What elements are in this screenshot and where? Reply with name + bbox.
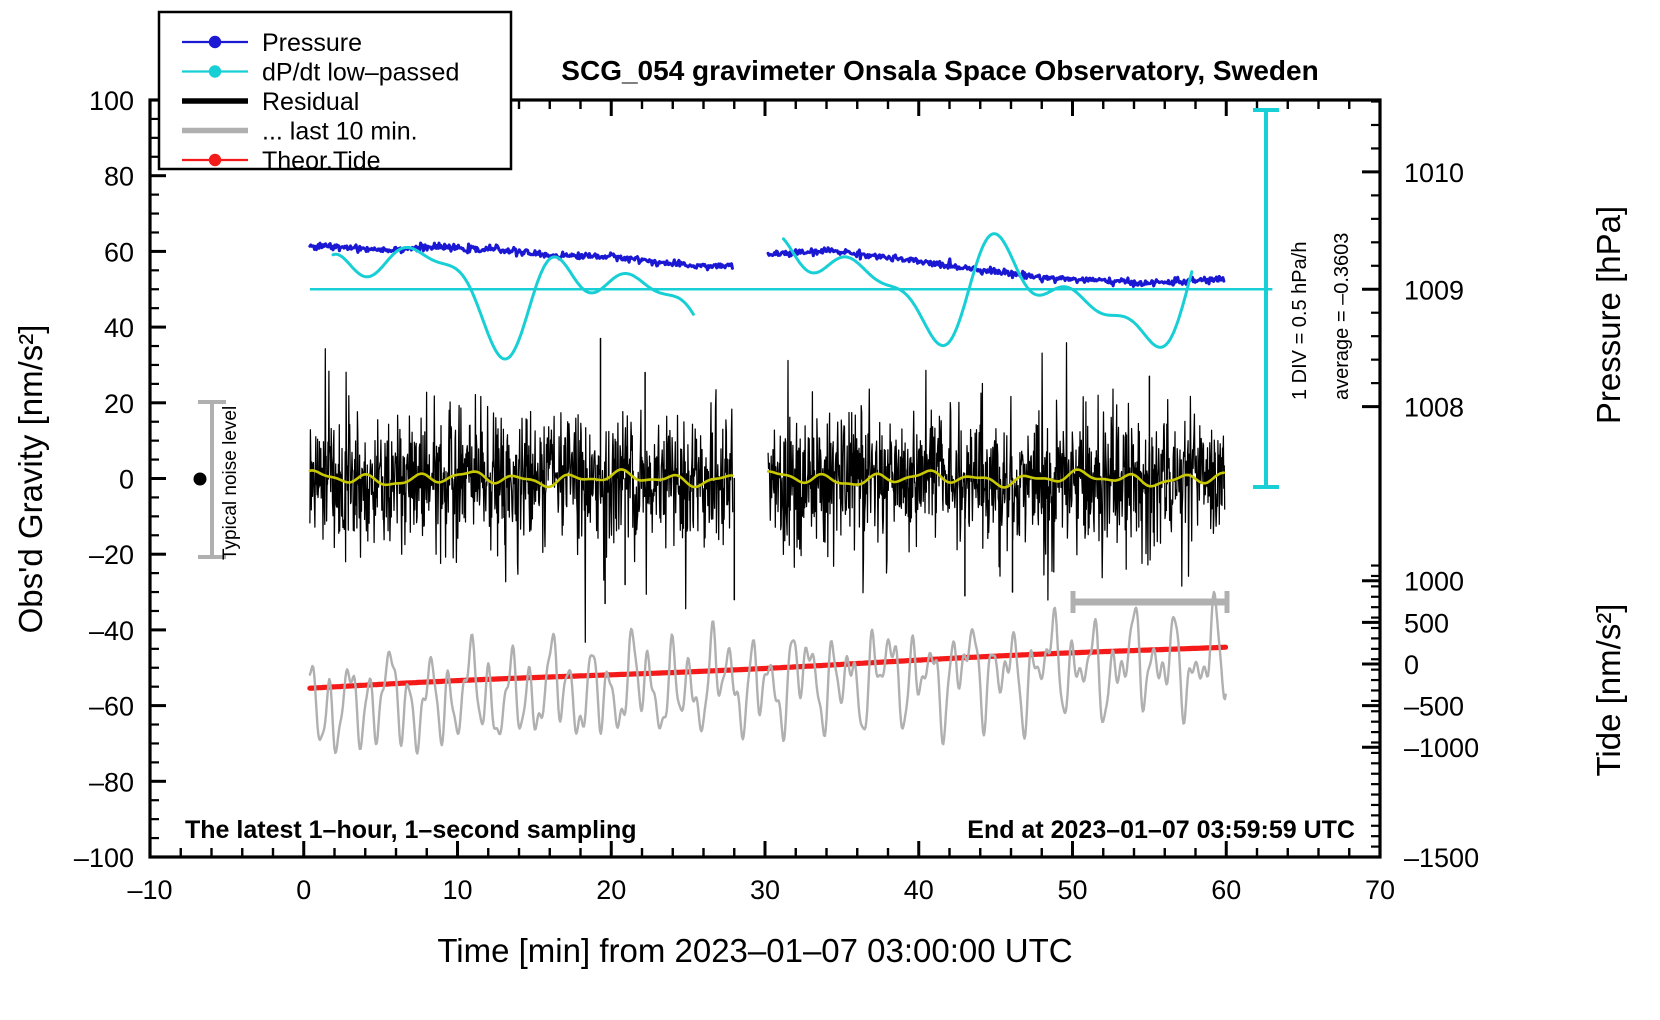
y-axis-title-tide: Tide [nm/s²] — [1590, 604, 1627, 777]
x-tick-label: 50 — [1057, 875, 1087, 905]
gravimeter-chart: –10010203040506070 100806040200–20–40–60… — [0, 0, 1660, 1020]
chart-root: –10010203040506070 100806040200–20–40–60… — [0, 0, 1660, 1020]
x-tick-label: 40 — [904, 875, 934, 905]
y-tick-label: 80 — [104, 162, 134, 192]
tide-tick-label: 500 — [1404, 608, 1449, 638]
pressure-tick-label: 1008 — [1404, 393, 1464, 423]
y-tick-label: 40 — [104, 313, 134, 343]
y-tick-label: –40 — [89, 616, 134, 646]
x-tick-label: –10 — [127, 875, 172, 905]
footer-left-label: The latest 1–hour, 1–second sampling — [185, 816, 637, 844]
tide-tick-label: 0 — [1404, 650, 1419, 680]
typical-noise-label: Typical noise level — [220, 406, 241, 560]
legend-marker — [209, 36, 221, 48]
y-tick-label: 60 — [104, 237, 134, 267]
y-tick-label: –80 — [89, 767, 134, 797]
legend-label: ... last 10 min. — [262, 118, 418, 146]
legend-label: dP/dt low–passed — [262, 59, 459, 87]
x-tick-label: 30 — [750, 875, 780, 905]
pressure-tick-label: 1009 — [1404, 275, 1464, 305]
tide-tick-label: 1000 — [1404, 567, 1464, 597]
tide-tick-label: –500 — [1404, 692, 1464, 722]
x-tick-label: 10 — [442, 875, 472, 905]
y-tick-label: –60 — [89, 692, 134, 722]
pressure-tick-label: 1010 — [1404, 158, 1464, 188]
x-axis-title: Time [min] from 2023–01–07 03:00:00 UTC — [437, 932, 1072, 969]
x-tick-label: 20 — [596, 875, 626, 905]
y-tick-label: –20 — [89, 540, 134, 570]
y-axis-title-pressure: Pressure [hPa] — [1590, 206, 1627, 424]
legend-label: Residual — [262, 88, 359, 116]
x-tick-label: 70 — [1365, 875, 1395, 905]
legend-marker — [209, 65, 221, 77]
y-tick-label: –100 — [74, 843, 134, 873]
legend: PressuredP/dt low–passedResidual... last… — [159, 12, 511, 175]
dpdt-average-label: average = –0.3603 — [1331, 233, 1353, 400]
x-tick-label: 60 — [1211, 875, 1241, 905]
x-tick-label: 0 — [296, 875, 311, 905]
legend-label: Pressure — [262, 29, 362, 57]
tide-tick-label: –1500 — [1404, 843, 1479, 873]
y-axis-title-gravity: Obs'd Gravity [nm/s²] — [12, 325, 49, 634]
tide-tick-label: –1000 — [1404, 733, 1479, 763]
dpdt-scale-div-label: 1 DIV = 0.5 hPa/h — [1289, 242, 1311, 400]
y-tick-label: 20 — [104, 389, 134, 419]
y-tick-label: 100 — [89, 86, 134, 116]
legend-marker — [209, 154, 221, 166]
y-tick-label: 0 — [119, 465, 134, 495]
page-title: SCG_054 gravimeter Onsala Space Observat… — [561, 55, 1318, 86]
legend-label: Theor.Tide — [262, 147, 381, 175]
footer-right-label: End at 2023–01–07 03:59:59 UTC — [967, 816, 1355, 844]
